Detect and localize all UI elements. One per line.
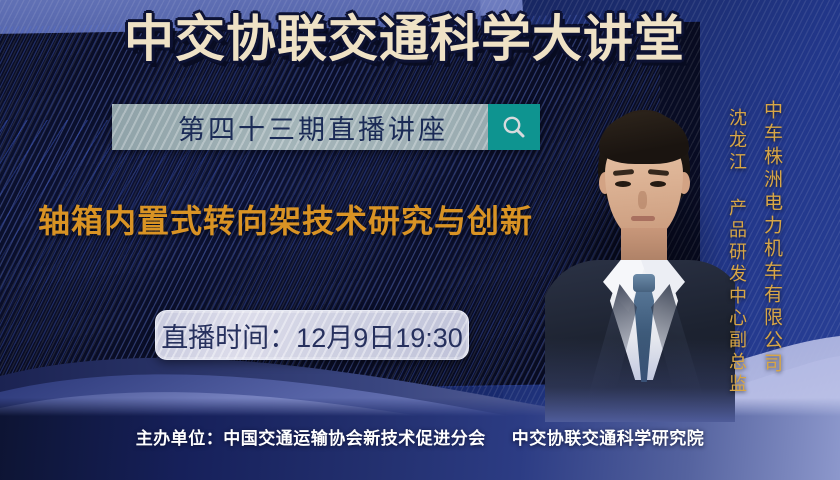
speaker-portrait (545, 92, 735, 422)
organizer-prefix: 主办单位： (136, 429, 224, 448)
episode-label: 第四十三期直播讲座 (178, 108, 448, 147)
lecture-topic: 轴箱内置式转向架技术研究与创新 (38, 196, 533, 242)
organizer-line: 主办单位：中国交通运输协会新技术促进分会中交协联交通科学研究院 (0, 424, 840, 449)
page-title: 中交协联交通科学大讲堂 (124, 14, 685, 64)
live-stream-poster: 中交协联交通科学大讲堂 第四十三期直播讲座 轴箱内置式转向架技术研究与创新 直播… (0, 0, 840, 480)
search-icon-button[interactable] (488, 104, 540, 150)
live-time-badge: 直播时间：12月9日19:30 (155, 310, 469, 360)
organizer-name-1: 中国交通运输协会新技术促进分会 (223, 429, 486, 448)
speaker-name-role: 沈龙江 产品研发中心副总监 (724, 108, 750, 396)
search-icon (501, 114, 527, 140)
speaker-company: 中车株洲电力机车有限公司 (758, 100, 785, 376)
organizer-name-2: 中交协联交通科学研究院 (512, 429, 705, 448)
live-time-label: 直播时间：12月9日19:30 (161, 316, 463, 355)
episode-banner: 第四十三期直播讲座 (112, 104, 540, 150)
